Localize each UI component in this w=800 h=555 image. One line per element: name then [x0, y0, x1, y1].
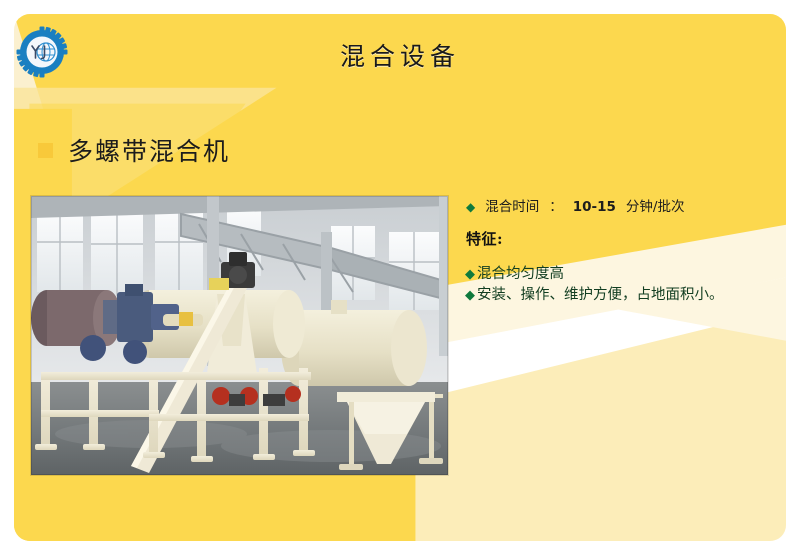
features-title: 特征: [466, 228, 503, 249]
spec-mixing-time: ◆ 混合时间 ： 10-15 分钟/批次 [466, 195, 684, 215]
product-photo-illustration [31, 196, 448, 475]
features-list: ◆ 混合均匀度高 ◆ 安装、操作、维护方便，占地面积小。 [465, 264, 785, 306]
diamond-bullet-icon: ◆ [466, 201, 475, 213]
list-item: ◆ 安装、操作、维护方便，占地面积小。 [465, 285, 785, 306]
section-heading: 多螺带混合机 [38, 132, 230, 168]
feature-text: 安装、操作、维护方便，占地面积小。 [477, 285, 724, 306]
product-photo [31, 196, 448, 475]
diamond-bullet-icon: ◆ [465, 285, 475, 306]
spec-separator: ： [549, 195, 563, 215]
square-bullet-icon [38, 143, 53, 158]
slide-canvas: 混合设备 多螺带混合机 [0, 0, 800, 555]
diamond-bullet-icon: ◆ [465, 264, 475, 285]
section-heading-label: 多螺带混合机 [68, 132, 230, 168]
spec-label: 混合时间 [485, 195, 539, 215]
page-title: 混合设备 [0, 37, 800, 73]
spec-value: 10-15 [573, 199, 616, 215]
list-item: ◆ 混合均匀度高 [465, 264, 785, 285]
feature-text: 混合均匀度高 [477, 264, 564, 285]
spec-unit: 分钟/批次 [626, 195, 685, 215]
